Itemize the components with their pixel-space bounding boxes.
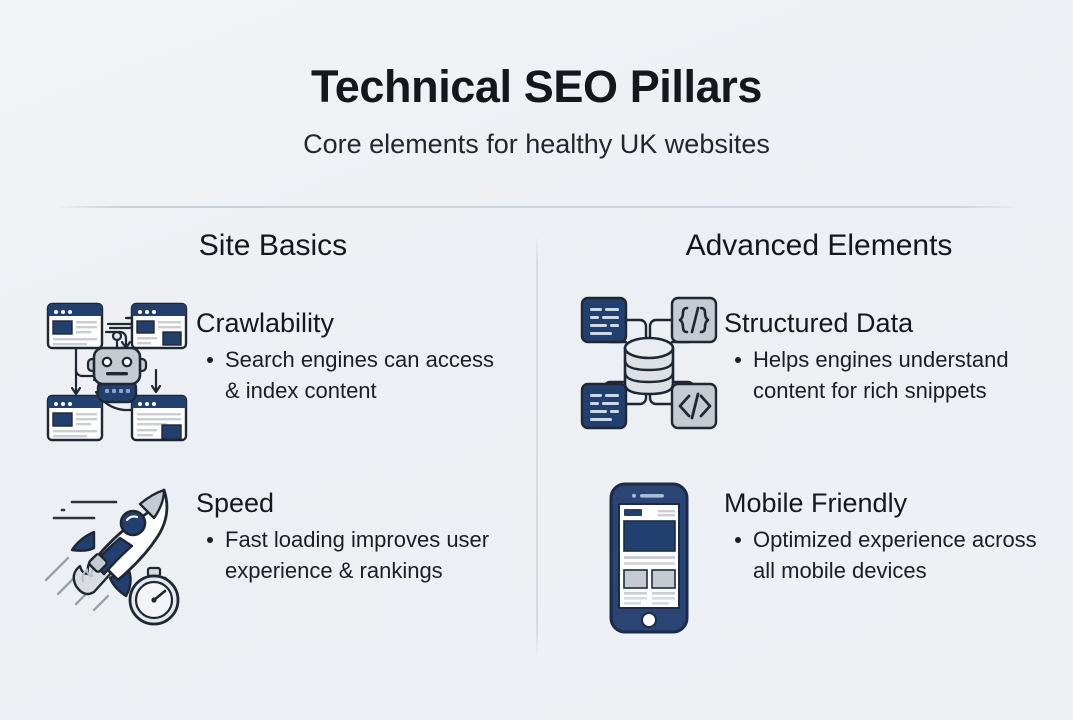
entry-bullets: Fast loading improves user experience & …	[196, 525, 510, 587]
entry-bullets: Search engines can access & index conten…	[196, 345, 510, 407]
entry-body: Speed Fast loading improves user experie…	[196, 482, 510, 587]
columns-container: Site Basics	[0, 228, 1073, 674]
entry-crawlability: Crawlability Search engines can access &…	[36, 302, 510, 446]
database-schema-icon	[574, 286, 724, 446]
entry-mobile-friendly: Mobile Friendly Optimized experience acr…	[574, 482, 1042, 638]
entry-bullets: Helps engines understand content for ric…	[724, 345, 1042, 407]
entry-title-mobile-friendly: Mobile Friendly	[724, 488, 1042, 519]
smartphone-icon	[574, 478, 724, 638]
list-item: Optimized experience across all mobile d…	[724, 525, 1042, 587]
header-block: Technical SEO Pillars Core elements for …	[0, 0, 1073, 161]
list-item: Fast loading improves user experience & …	[196, 525, 510, 587]
list-item: Helps engines understand content for ric…	[724, 345, 1042, 407]
entry-speed: Speed Fast loading improves user experie…	[36, 482, 510, 632]
page-subtitle: Core elements for healthy UK websites	[0, 112, 1073, 160]
entry-title-crawlability: Crawlability	[196, 308, 510, 339]
entry-bullets: Optimized experience across all mobile d…	[724, 525, 1042, 587]
entry-structured-data: Structured Data Helps engines understand…	[574, 302, 1042, 446]
column-advanced-elements: Advanced Elements	[536, 228, 1072, 674]
entry-body: Mobile Friendly Optimized experience acr…	[724, 482, 1042, 587]
entry-body: Structured Data Helps engines understand…	[724, 302, 1042, 407]
list-item: Search engines can access & index conten…	[196, 345, 510, 407]
entry-body: Crawlability Search engines can access &…	[196, 302, 510, 407]
crawler-robot-icon	[36, 286, 196, 446]
header-divider	[60, 206, 1014, 208]
infographic-canvas: Technical SEO Pillars Core elements for …	[0, 0, 1073, 720]
rocket-stopwatch-icon	[36, 472, 196, 632]
entry-title-speed: Speed	[196, 488, 510, 519]
entry-title-structured-data: Structured Data	[724, 308, 1042, 339]
column-site-basics: Site Basics	[0, 228, 536, 674]
page-title: Technical SEO Pillars	[0, 0, 1073, 112]
